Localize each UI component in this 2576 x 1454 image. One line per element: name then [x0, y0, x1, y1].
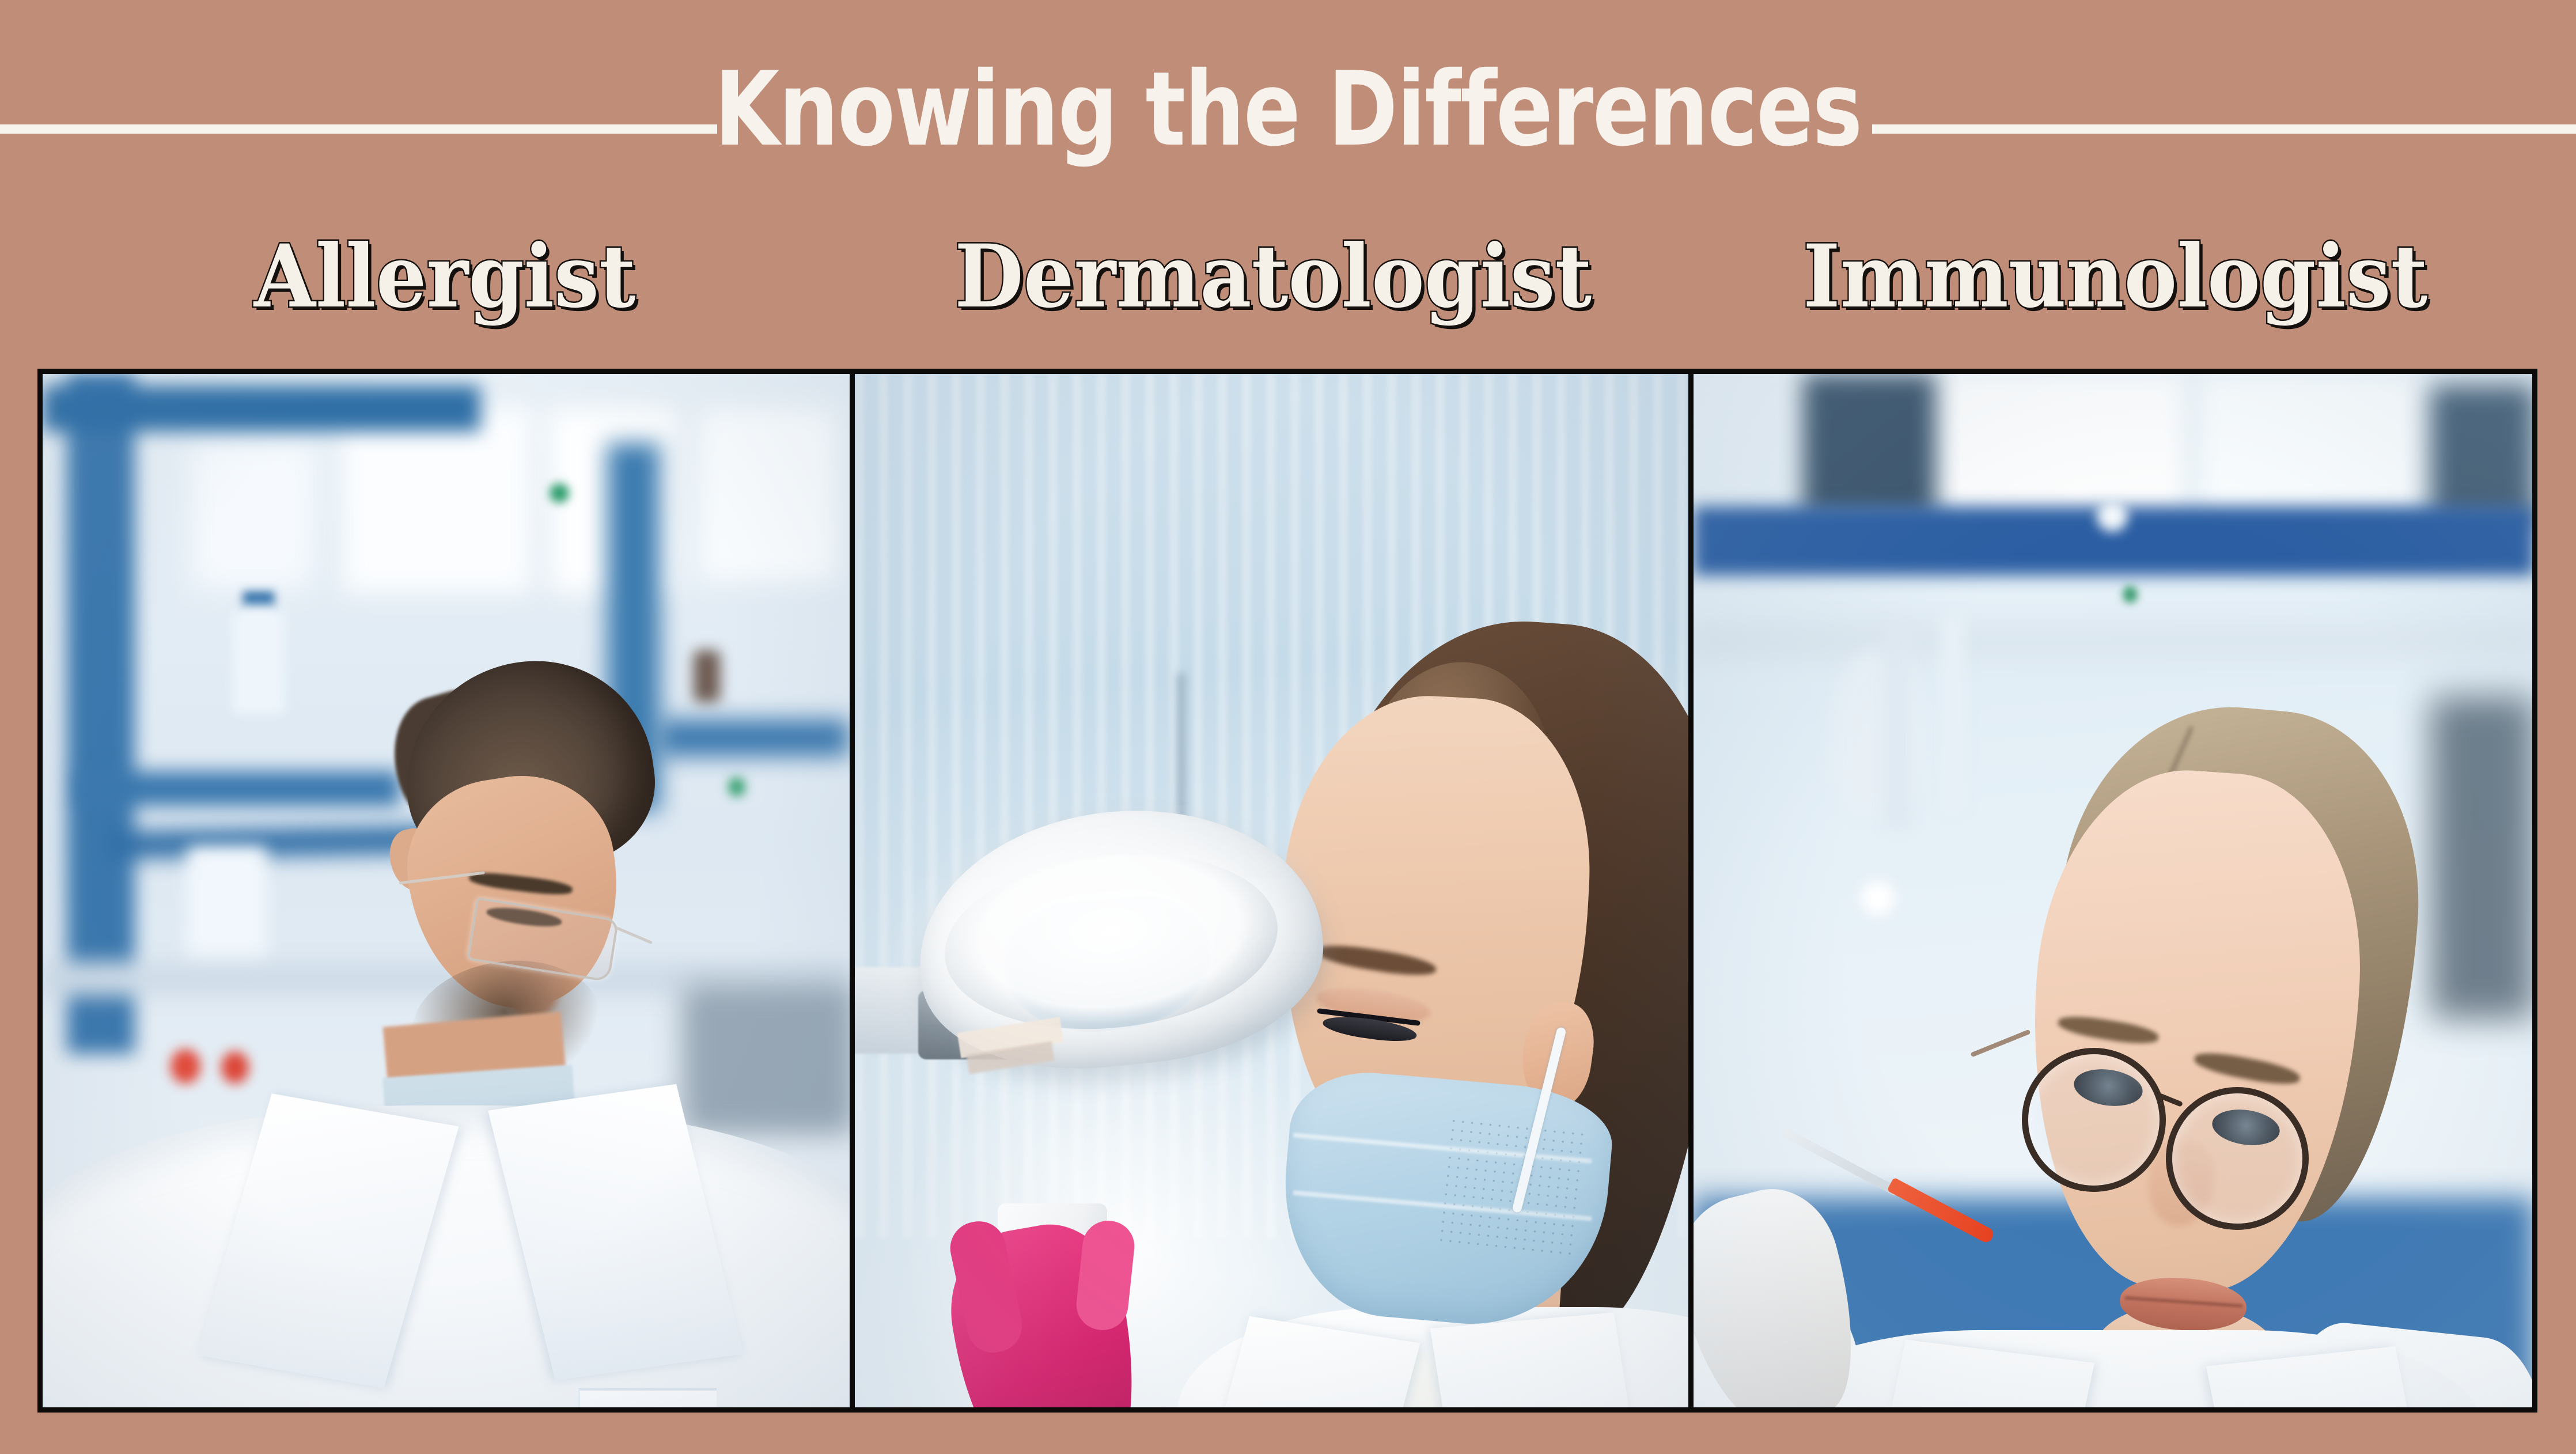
header: Knowing the Differences [0, 0, 2576, 207]
dermatologist-photo [855, 374, 1688, 1407]
allergist-photo [43, 374, 850, 1407]
label-text-immunologist: Immunologist [1803, 230, 2427, 323]
photo-panel-immunologist [1694, 374, 2532, 1407]
label-text-dermatologist: Dermatologist [954, 230, 1592, 323]
label-text-allergist: Allergist [254, 230, 636, 323]
column-label-dermatologist: Dermatologist [853, 190, 1694, 363]
column-label-allergist: Allergist [37, 190, 853, 363]
column-label-immunologist: Immunologist [1694, 190, 2537, 363]
photo-panel-dermatologist [855, 374, 1688, 1407]
immunologist-photo [1694, 374, 2532, 1407]
photo-panel-row [37, 369, 2537, 1413]
column-label-row: Allergist Dermatologist Immunologist [37, 190, 2537, 363]
page-title: Knowing the Differences [232, 55, 2344, 164]
photo-panel-allergist [43, 374, 850, 1407]
